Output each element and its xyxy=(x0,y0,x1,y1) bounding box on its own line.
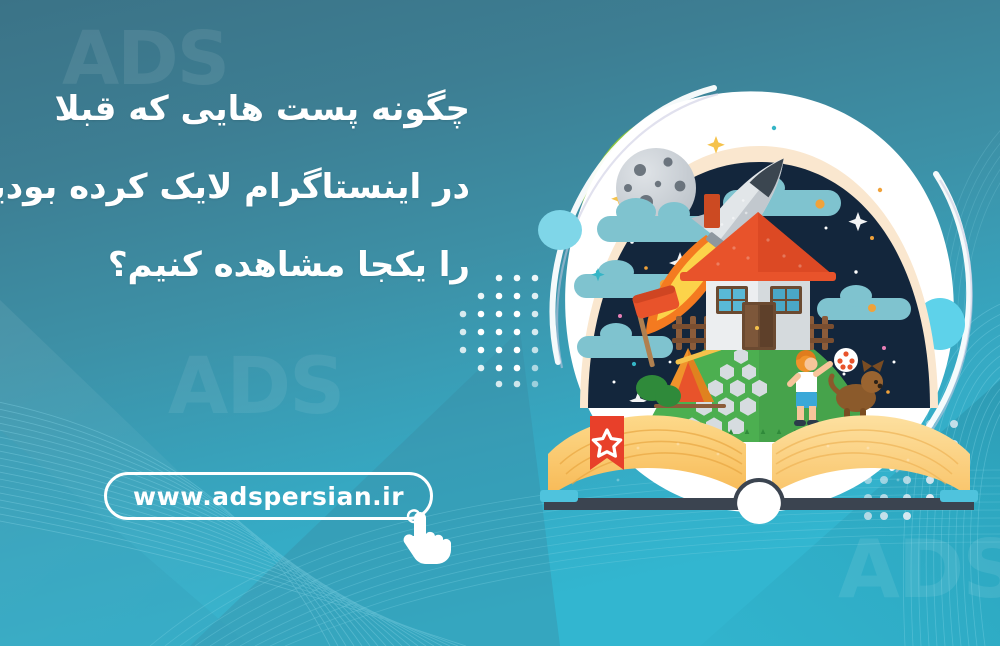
watermark-ads-middle-left: ADS xyxy=(168,348,343,426)
website-url-label: www.adspersian.ir xyxy=(133,482,404,511)
website-url-button[interactable]: www.adspersian.ir xyxy=(104,472,433,520)
headline-line-1: چگونه پست هایی که قبلا xyxy=(30,92,470,126)
hand-pointer-icon xyxy=(400,506,454,566)
illustration-open-book-space-scene xyxy=(528,62,990,532)
cyan-blob-left xyxy=(538,210,582,250)
watermark-ads-bottom-right: ADS xyxy=(838,530,1000,610)
ball-icon xyxy=(834,348,858,372)
headline-line-3: را یکجا مشاهده کنیم؟ xyxy=(30,248,470,282)
headline-line-2: در اینستاگرام لایک کرده بودیم xyxy=(30,170,470,204)
headline: چگونه پست هایی که قبلا در اینستاگرام لای… xyxy=(30,92,470,326)
watermark-ads-top-left: ADS xyxy=(62,22,228,96)
banner-canvas: ADS ADS ADS xyxy=(0,0,1000,646)
